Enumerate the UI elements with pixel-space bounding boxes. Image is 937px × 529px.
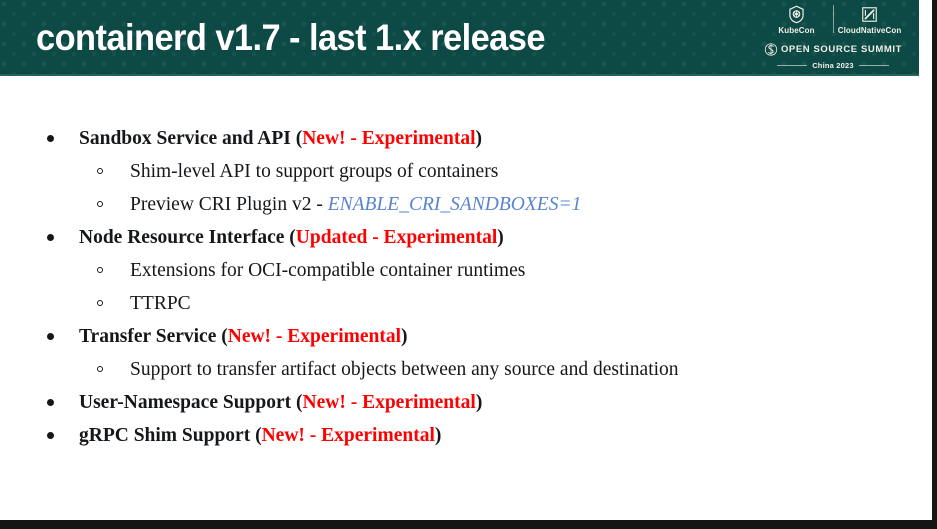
bullet-paren-close: ) <box>476 128 483 149</box>
logo-year-label: China 2023 <box>812 61 854 70</box>
bullet-text: User-Namespace Support <box>79 392 296 413</box>
kubecon-lockup: KubeCon <box>764 5 830 35</box>
bullet-text: Node Resource Interface <box>79 227 289 248</box>
bullet-item-level1: User-Namespace Support (New! - Experimen… <box>0 386 919 419</box>
bullet-item-level1: Sandbox Service and API (New! - Experime… <box>0 122 919 155</box>
bullet-circle-icon <box>97 366 103 372</box>
slide-right-border <box>932 0 937 529</box>
summit-s-icon <box>764 42 778 57</box>
bullet-paren-close: ) <box>497 227 504 248</box>
bullet-item-level2: Preview CRI Plugin v2 - ENABLE_CRI_SANDB… <box>0 188 919 221</box>
bullet-item-level2: Shim-level API to support groups of cont… <box>0 155 919 188</box>
bullet-text: Shim-level API to support groups of cont… <box>130 161 498 182</box>
bullet-text: gRPC Shim Support <box>79 425 255 446</box>
bullet-list: Sandbox Service and API (New! - Experime… <box>0 122 919 452</box>
bullet-disc-icon <box>47 432 54 439</box>
open-source-summit-row: OPEN SOURCE SUMMIT <box>763 42 903 57</box>
page-title: containerd v1.7 - last 1.x release <box>36 16 545 60</box>
bullet-circle-icon <box>97 168 103 174</box>
kubecon-label: KubeCon <box>778 26 814 35</box>
logo-divider <box>833 5 834 33</box>
bullet-code-text: ENABLE_CRI_SANDBOXES=1 <box>328 194 582 215</box>
bullet-text: Preview CRI Plugin v2 - <box>130 194 328 215</box>
slide-bottom-border <box>0 520 937 529</box>
bullet-disc-icon <box>47 234 54 241</box>
content-top-spacer <box>0 76 919 122</box>
logo-year-row: China 2023 <box>763 61 903 70</box>
bullet-circle-icon <box>97 201 103 207</box>
logo-top-row: KubeCon CloudNativeCon <box>763 5 903 39</box>
bullet-text: Extensions for OCI-compatible container … <box>130 260 525 281</box>
bullet-disc-icon <box>47 135 54 142</box>
bullet-item-level1: Transfer Service (New! - Experimental) <box>0 320 919 353</box>
slide-header-band: containerd v1.7 - last 1.x release <box>0 0 919 76</box>
bullet-circle-icon <box>97 300 103 306</box>
bullet-disc-icon <box>47 333 54 340</box>
conference-logo: KubeCon CloudNativeCon <box>763 5 903 71</box>
bullet-item-level2: Support to transfer artifact objects bet… <box>0 353 919 386</box>
logo-rule-left <box>777 65 807 66</box>
status-badge: New! - Experimental <box>303 392 476 413</box>
cloudnativecon-square-icon <box>861 5 878 24</box>
slide-body: Sandbox Service and API (New! - Experime… <box>0 76 919 519</box>
cloudnativecon-lockup: CloudNativeCon <box>837 5 903 35</box>
bullet-paren-close: ) <box>476 392 483 413</box>
bullet-paren-close: ) <box>401 326 408 347</box>
status-badge: New! - Experimental <box>262 425 435 446</box>
status-badge: Updated - Experimental <box>296 227 498 248</box>
kubecon-helm-icon <box>787 5 806 24</box>
bullet-item-level2: TTRPC <box>0 287 919 320</box>
bullet-circle-icon <box>97 267 103 273</box>
bullet-text: TTRPC <box>130 293 191 314</box>
presentation-slide: containerd v1.7 - last 1.x release <box>0 0 937 529</box>
bullet-disc-icon <box>47 399 54 406</box>
bullet-item-level1: gRPC Shim Support (New! - Experimental) <box>0 419 919 452</box>
bullet-item-level1: Node Resource Interface (Updated - Exper… <box>0 221 919 254</box>
bullet-text: Sandbox Service and API <box>79 128 296 149</box>
summit-label: OPEN SOURCE SUMMIT <box>781 44 902 55</box>
status-badge: New! - Experimental <box>302 128 475 149</box>
bullet-item-level2: Extensions for OCI-compatible container … <box>0 254 919 287</box>
status-badge: New! - Experimental <box>228 326 401 347</box>
bullet-paren-close: ) <box>435 425 442 446</box>
bullet-text: Transfer Service <box>79 326 221 347</box>
bullet-text: Support to transfer artifact objects bet… <box>130 359 679 380</box>
cloudnativecon-label: CloudNativeCon <box>838 26 902 35</box>
logo-rule-right <box>859 65 889 66</box>
